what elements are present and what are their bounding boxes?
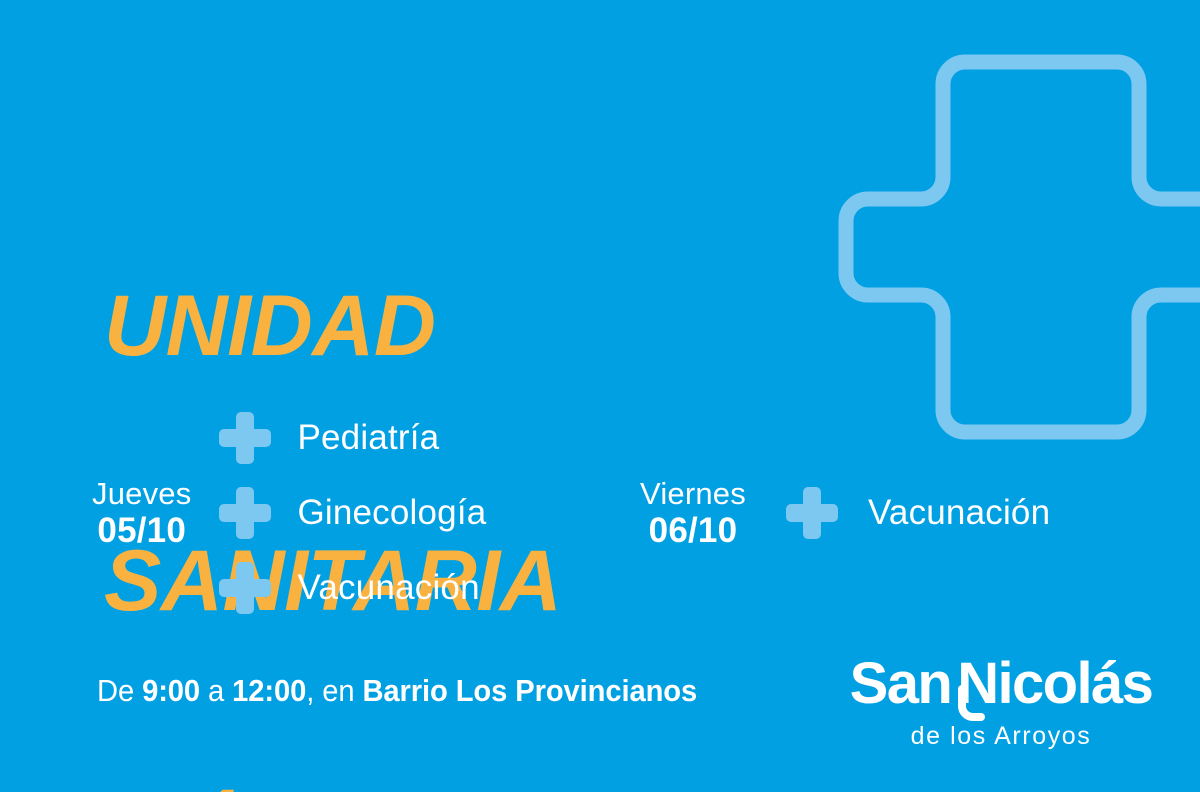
footer-time-end: 12:00 (232, 673, 306, 708)
day-date: 05/10 (92, 513, 191, 548)
plus-cross-icon (219, 412, 271, 464)
footer-connector: , en (306, 673, 362, 708)
service-item: Ginecología (219, 475, 486, 550)
schedule-day-friday: Viernes 06/10 Vacunación (640, 475, 1050, 550)
logo-subtitle: de los Arroyos (836, 722, 1166, 751)
footer-time-start: 9:00 (142, 673, 200, 708)
service-list-thursday: Pediatría Ginecología Vacunación (219, 400, 486, 625)
plus-cross-icon (219, 487, 271, 539)
plus-cross-icon (786, 487, 838, 539)
footer-prefix: De (97, 673, 142, 708)
footer-middle: a (200, 673, 232, 708)
service-list-friday: Vacunación (786, 475, 1050, 550)
schedule-footer-text: De 9:00 a 12:00, en Barrio Los Provincia… (97, 673, 697, 709)
logo-name-part2: Nicolás (957, 651, 1152, 716)
day-of-week: Viernes (640, 478, 746, 509)
service-label: Ginecología (297, 493, 486, 533)
service-item: Vacunación (786, 475, 1050, 550)
day-of-week: Jueves (92, 478, 191, 509)
schedule-section: Jueves 05/10 Pediatría Ginecología Vacun… (0, 400, 1200, 630)
poster-canvas: UNIDAD SANITARIA MÓVIL Jueves 05/10 Pedi… (0, 0, 1200, 792)
plus-cross-icon (219, 562, 271, 614)
day-label-friday: Viernes 06/10 (640, 478, 746, 548)
service-label: Vacunación (297, 568, 479, 608)
footer-place: Barrio Los Provincianos (362, 673, 697, 708)
title-line-1: UNIDAD (104, 284, 744, 369)
logo-wordmark: SanNicolás (836, 655, 1166, 713)
background-cross-outline-icon (846, 52, 1200, 442)
service-item: Pediatría (219, 400, 486, 475)
service-item: Vacunación (219, 550, 486, 625)
service-label: Vacunación (868, 493, 1050, 533)
day-label-thursday: Jueves 05/10 (92, 478, 191, 548)
day-date: 06/10 (640, 513, 746, 548)
schedule-day-thursday: Jueves 05/10 Pediatría Ginecología Vacun… (92, 400, 486, 625)
service-label: Pediatría (297, 418, 439, 458)
municipality-logo: SanNicolás de los Arroyos (836, 655, 1166, 751)
logo-name-part1: San (850, 651, 952, 716)
